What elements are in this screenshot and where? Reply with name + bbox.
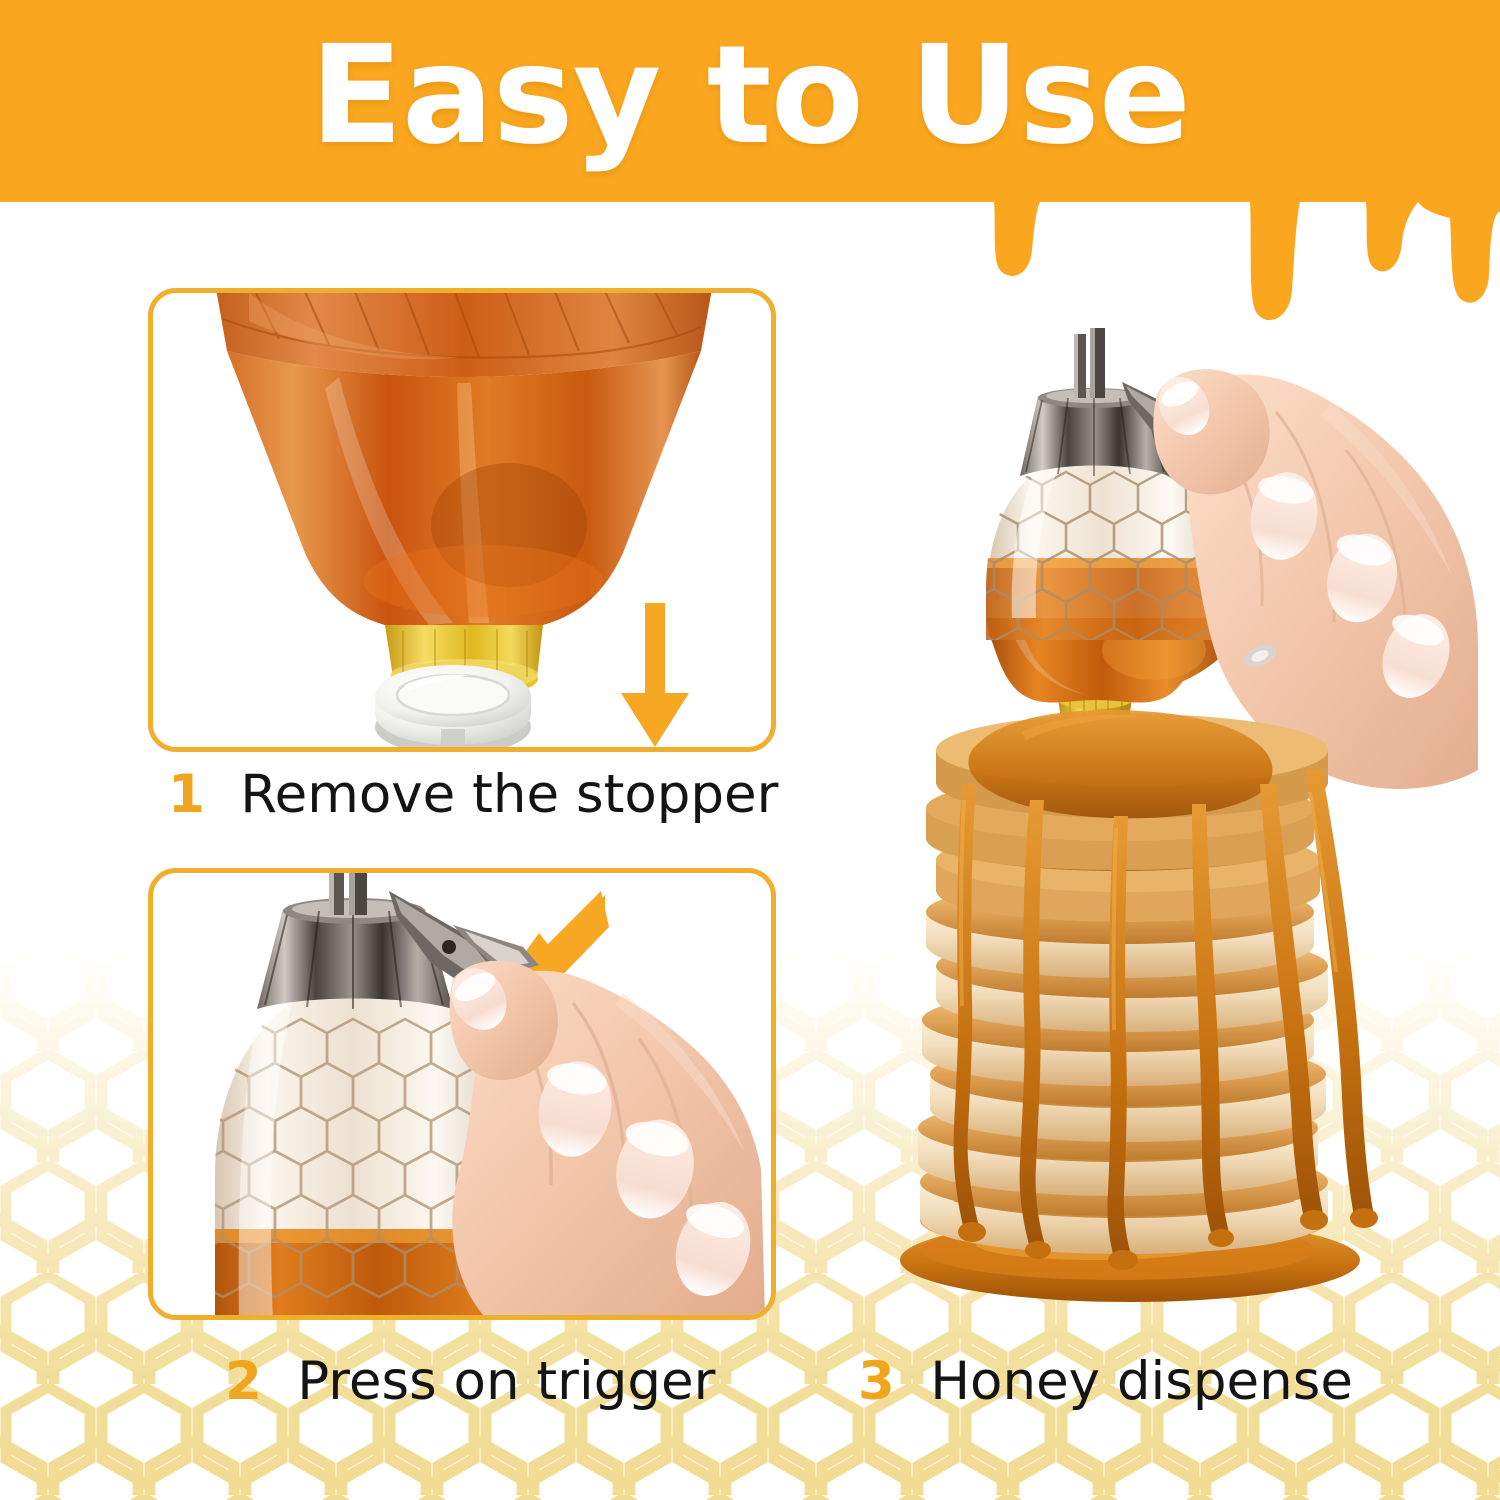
infographic-page: Easy to Use — [0, 0, 1500, 1500]
step-3-label: Honey dispense — [930, 1351, 1353, 1412]
white-stopper — [375, 665, 531, 747]
step-2-number: 2 — [225, 1351, 280, 1412]
step-3-caption: 3 Honey dispense — [858, 1355, 1353, 1408]
pancake-stack — [900, 710, 1378, 1302]
down-arrow-icon — [621, 603, 689, 747]
step-1-number: 1 — [168, 764, 223, 825]
page-title: Easy to Use — [0, 28, 1500, 164]
hand — [441, 959, 765, 1315]
step-3-illustration — [860, 300, 1480, 1330]
step-1-caption: 1 Remove the stopper — [168, 768, 778, 821]
step-2-panel — [148, 868, 776, 1320]
step-2-caption: 2 Press on trigger — [225, 1355, 715, 1408]
step-1-label: Remove the stopper — [240, 764, 778, 825]
step-3-number: 3 — [858, 1351, 913, 1412]
step-1-illustration — [153, 293, 771, 747]
step-2-illustration — [153, 873, 771, 1315]
step-1-panel — [148, 288, 776, 752]
header-banner: Easy to Use — [0, 0, 1500, 202]
step-3-scene — [860, 300, 1480, 1330]
step-2-label: Press on trigger — [297, 1351, 715, 1412]
